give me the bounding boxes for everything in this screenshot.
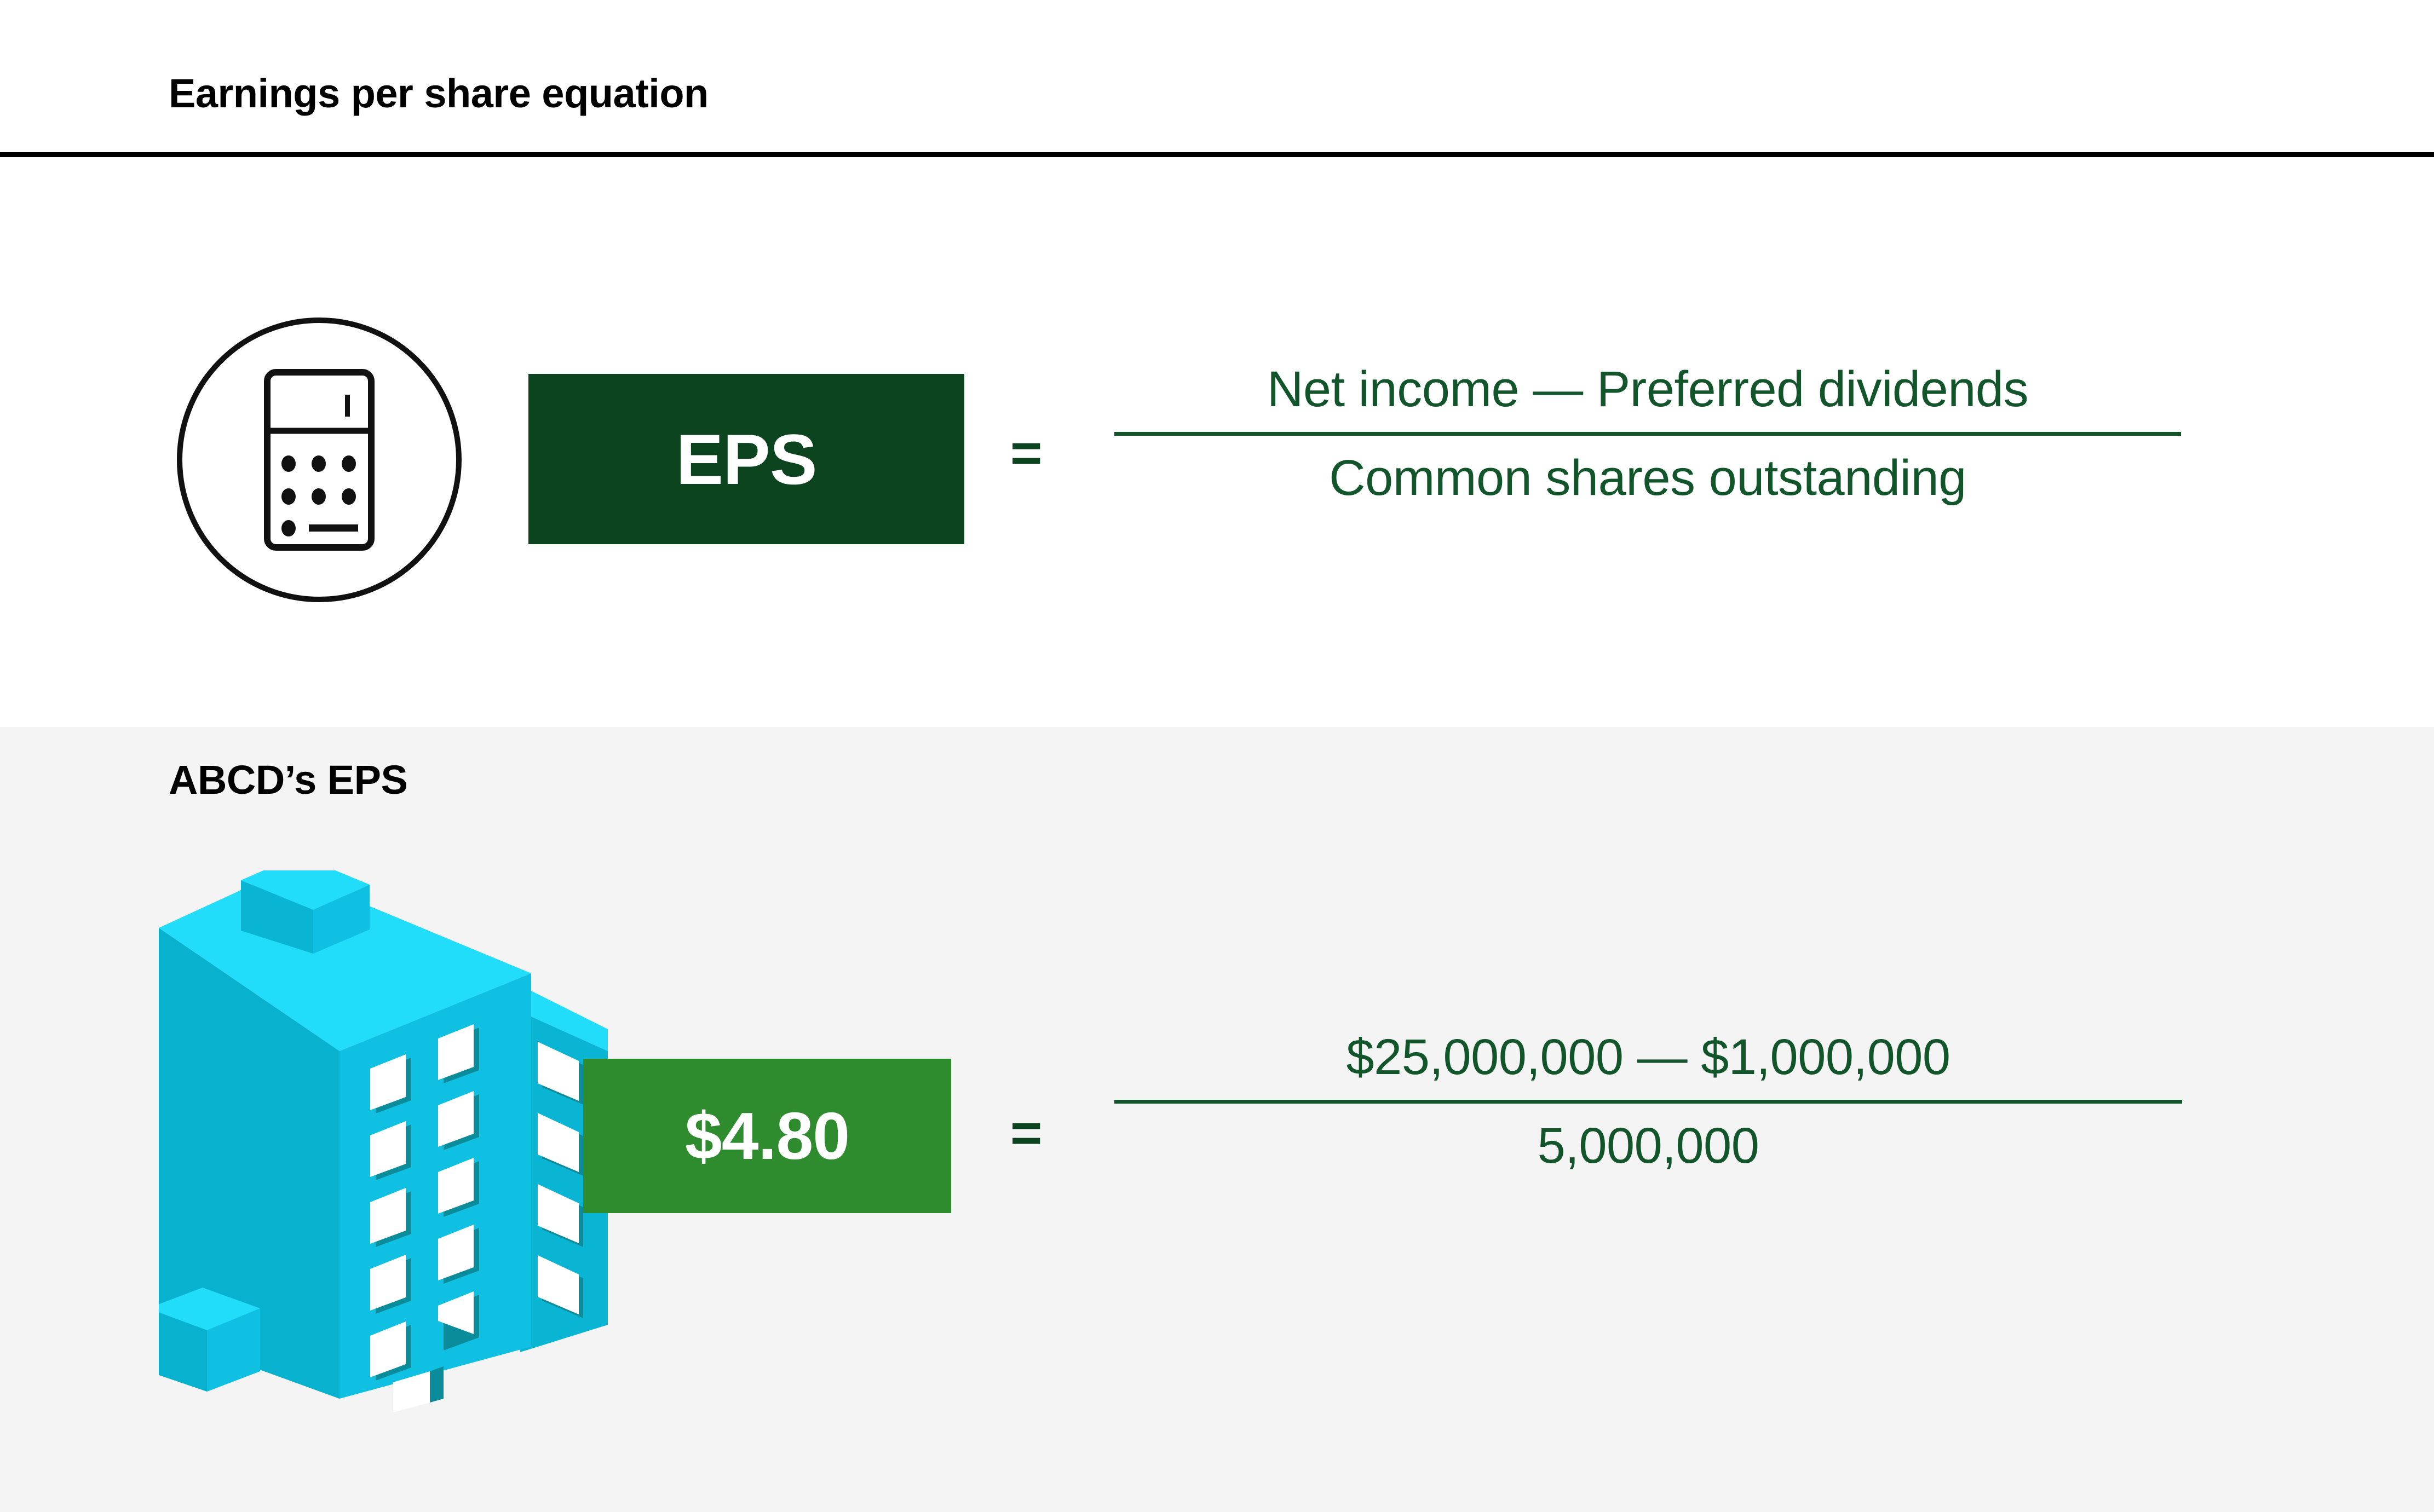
abcd-formula-denominator: 5,000,000 <box>1114 1104 2182 1174</box>
eps-equation-section: Earnings per share equation EPS <box>0 0 2434 727</box>
page-title: Earnings per share equation <box>169 70 709 117</box>
eps-formula-numerator: Net income — Preferred dividends <box>1114 361 2181 432</box>
abcd-section-title: ABCD’s EPS <box>169 757 407 803</box>
infographic-canvas: Earnings per share equation EPS <box>0 0 2434 1512</box>
office-building-icon <box>159 870 608 1451</box>
header-divider <box>0 152 2434 157</box>
abcd-fraction-bar <box>1114 1100 2182 1104</box>
eps-value-label: $4.80 <box>685 1098 849 1174</box>
calculator-icon <box>174 315 464 605</box>
eps-formula-denominator: Common shares outstanding <box>1114 436 2181 506</box>
eps-fraction-bar <box>1114 432 2181 436</box>
eps-value-chip: $4.80 <box>583 1059 951 1213</box>
equals-sign-bottom: = <box>1010 1106 1042 1161</box>
abcd-formula-numerator: $25,000,000 — $1,000,000 <box>1114 1029 2182 1100</box>
abcd-formula-fraction: $25,000,000 — $1,000,000 5,000,000 <box>1114 1029 2182 1174</box>
eps-label-chip: EPS <box>528 374 964 544</box>
eps-chip-label: EPS <box>676 418 816 500</box>
equals-sign-top: = <box>1010 426 1042 481</box>
eps-formula-fraction: Net income — Preferred dividends Common … <box>1114 361 2181 506</box>
